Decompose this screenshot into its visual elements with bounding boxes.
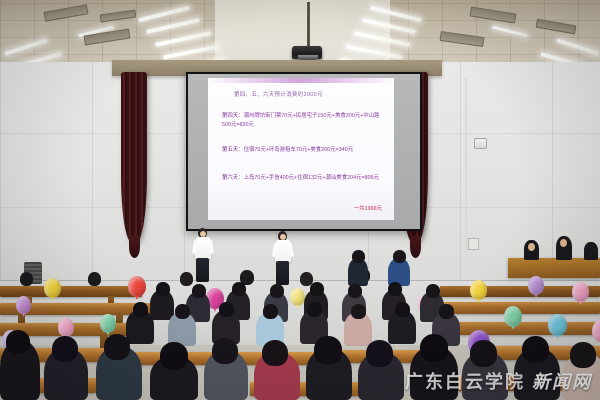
slide-block-text: 潮州牌坊街门票70元+民居宅子150元+美食200元+中山路500元=820元 <box>222 113 379 128</box>
slide-block-lead: 第四天： <box>222 113 244 119</box>
balloon <box>470 280 487 300</box>
stage-curtain-right-tail <box>410 236 421 258</box>
audience-head <box>180 272 193 286</box>
audience-head <box>212 338 238 364</box>
slide-block: 第六天：上岛70元+手信400元+住宿132元+潮汕美食204元=806元 <box>222 174 384 183</box>
balloon <box>528 276 544 295</box>
audience-head <box>570 342 596 368</box>
presenter-left <box>192 228 216 286</box>
presenter-legs <box>196 258 209 282</box>
presenter-right <box>272 231 296 287</box>
staff-person-face <box>528 243 535 251</box>
projector-mount-pole <box>307 2 310 50</box>
audience-head <box>262 340 288 366</box>
audience-head <box>388 282 402 296</box>
slide-block: 第五天：住宿70元+环岛游租车70元+美食200元=340元 <box>222 146 384 155</box>
balloon <box>58 318 74 337</box>
audience-head <box>307 302 322 317</box>
balloon <box>572 282 589 302</box>
audience-head <box>175 304 190 319</box>
balloon <box>44 278 61 298</box>
audience-head <box>352 250 365 263</box>
audience-head <box>219 302 234 317</box>
audience-head <box>314 336 342 364</box>
audience-head <box>192 284 206 298</box>
audience-head <box>351 304 366 319</box>
audience-head <box>439 304 454 319</box>
audience-head <box>156 282 170 296</box>
audience-head <box>426 284 440 298</box>
presenter-arm <box>208 240 214 254</box>
audience-head <box>366 340 393 367</box>
slide-total: 一共1966元 <box>354 204 382 212</box>
audience-head <box>470 340 497 367</box>
wall-outlet-icon <box>468 238 479 250</box>
audience-head <box>310 282 324 296</box>
audience-head <box>420 334 448 362</box>
balloon <box>128 276 146 297</box>
slide-block-lead: 第五天： <box>222 147 244 153</box>
staff-person <box>584 242 598 260</box>
audience-head <box>232 282 246 296</box>
audience-head <box>522 336 549 363</box>
slide-block-text: 住宿70元+环岛游租车70元+美食200元=340元 <box>244 147 354 153</box>
audience-head <box>393 250 406 263</box>
audience-head <box>395 302 410 317</box>
staff-table <box>508 258 600 278</box>
presenter-legs <box>276 261 289 285</box>
projector-light-glow <box>208 78 394 83</box>
balloon <box>16 296 31 314</box>
balloon <box>100 314 116 333</box>
balloon <box>548 314 567 336</box>
stage-curtain-left-tail <box>129 236 140 258</box>
slide-block-text: 上岛70元+手信400元+住宿132元+潮汕美食204元=806元 <box>244 175 379 181</box>
slide-title: 第四、五、六天预计消费约2000元 <box>234 90 323 98</box>
stage-curtain-left <box>121 72 147 242</box>
audience-head <box>270 284 284 298</box>
slide-block-lead: 第六天： <box>222 175 244 181</box>
projection-screen: 第四、五、六天预计消费约2000元 第四天：潮州牌坊街门票70元+民居宅子150… <box>186 72 422 231</box>
wall-speaker-icon <box>474 138 487 149</box>
balloon <box>504 306 522 327</box>
audience-head <box>104 334 130 360</box>
audience-head <box>6 330 30 354</box>
audience-head <box>88 272 101 286</box>
audience-head <box>52 336 78 362</box>
audience-head <box>20 272 33 286</box>
projected-slide: 第四、五、六天预计消费约2000元 第四天：潮州牌坊街门票70元+民居宅子150… <box>208 78 394 220</box>
audience-head <box>348 284 362 298</box>
slide-block: 第四天：潮州牌坊街门票70元+民居宅子150元+美食200元+中山路500元=8… <box>222 112 384 130</box>
wall-conduit <box>465 78 467 258</box>
photograph: 第四、五、六天预计消费约2000元 第四天：潮州牌坊街门票70元+民居宅子150… <box>0 0 600 400</box>
staff-person-face <box>560 239 567 247</box>
audience-head <box>263 304 278 319</box>
audience-head <box>160 342 188 370</box>
audience-head <box>133 302 148 317</box>
balloon <box>290 288 305 306</box>
